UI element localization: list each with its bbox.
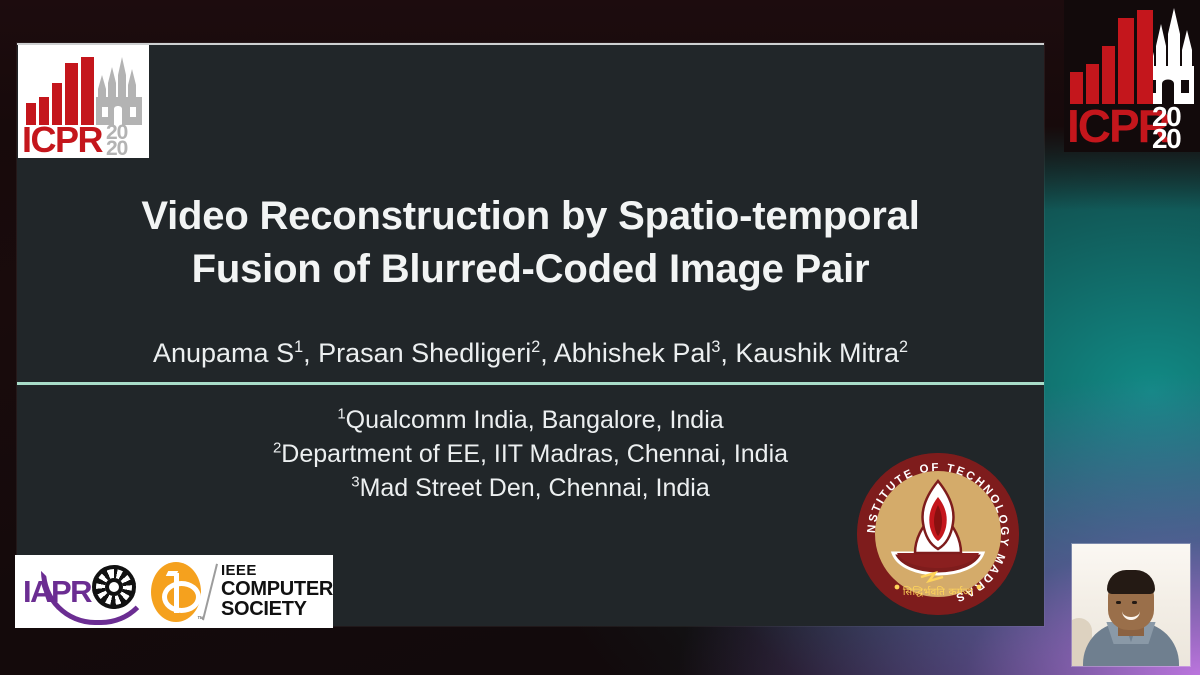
presenter-hair — [1107, 570, 1155, 594]
iapr-wordmark: IAPR — [23, 574, 91, 610]
iit-madras-seal-logo: INDIAN INSTITUTE OF TECHNOLOGY MADRAS सि… — [857, 453, 1019, 615]
author-affiliation-marker: 2 — [531, 338, 540, 356]
iapr-logo: IAPR — [15, 555, 147, 628]
iapr-pinwheel-icon — [92, 565, 136, 609]
slide-surface[interactable]: ICPR 20 20 Video Reconstruction by Spati… — [17, 43, 1044, 626]
icpr-logo-artwork: ICPR 20 20 — [18, 45, 149, 158]
author-entry: Kaushik Mitra2 — [735, 338, 908, 368]
svg-text:20: 20 — [106, 137, 128, 158]
title-line-2: Fusion of Blurred-Coded Image Pair — [51, 243, 1010, 296]
author-separator: , — [720, 338, 735, 368]
ieee-cs-line-3: SOCIETY — [221, 599, 333, 619]
author-name: Abhishek Pal — [554, 338, 712, 368]
sponsor-logo-strip: IAPR ™ IEEE COMPUTER SOCIETY — [15, 555, 333, 628]
author-separator: , — [540, 338, 554, 368]
presenter-eye-right — [1132, 601, 1137, 604]
author-affiliation-marker: 2 — [899, 338, 908, 356]
horizontal-rule — [17, 382, 1044, 385]
presentation-stage: ICPR 20 20 Video Reconstruction by Spati… — [0, 0, 1200, 675]
iit-madras-motto: सिद्धिर्भवति कर्मजा — [857, 584, 1019, 598]
icpr-logo-large: ICPR 20 20 — [1064, 0, 1200, 152]
ieee-cs-glyph-stem — [174, 573, 179, 613]
affiliation-item: 1Qualcomm India, Bangalore, India — [17, 403, 1044, 437]
ieee-cs-wordmark: IEEE COMPUTER SOCIETY — [221, 563, 333, 619]
ieee-cs-glyph-flag — [166, 571, 178, 576]
svg-text:20: 20 — [1152, 123, 1181, 152]
author-separator: , — [303, 338, 318, 368]
author-entry: Abhishek Pal3, — [554, 338, 736, 368]
affiliation-marker: 1 — [337, 406, 345, 423]
affiliation-text: Department of EE, IIT Madras, Chennai, I… — [281, 440, 788, 468]
author-entry: Prasan Shedligeri2, — [318, 338, 554, 368]
author-name: Anupama S — [153, 338, 294, 368]
author-affiliation-marker: 1 — [294, 338, 303, 356]
presenter-video-tile[interactable] — [1072, 544, 1190, 666]
title-line-1: Video Reconstruction by Spatio-temporal — [51, 190, 1010, 243]
ieee-cs-divider — [202, 563, 218, 620]
author-name: Kaushik Mitra — [735, 338, 899, 368]
author-list: Anupama S1, Prasan Shedligeri2, Abhishek… — [17, 336, 1044, 370]
affiliation-text: Qualcomm India, Bangalore, India — [346, 406, 724, 434]
slide-title: Video Reconstruction by Spatio-temporal … — [17, 190, 1044, 296]
svg-text:ICPR: ICPR — [22, 119, 104, 158]
presenter-eye-left — [1116, 601, 1121, 604]
icpr-logo-svg: ICPR 20 20 — [18, 45, 149, 158]
ieee-computer-society-logo: ™ IEEE COMPUTER SOCIETY — [147, 555, 333, 628]
icpr-logo-large-svg: ICPR 20 20 — [1064, 0, 1200, 152]
ieee-cs-mark-icon: ™ — [149, 562, 203, 622]
author-entry: Anupama S1, — [153, 338, 318, 368]
affiliation-marker: 3 — [351, 474, 359, 491]
ieee-cs-glyph-ring — [162, 581, 201, 613]
author-name: Prasan Shedligeri — [318, 338, 531, 368]
icpr-logo-small: ICPR 20 20 — [18, 45, 149, 158]
affiliation-text: Mad Street Den, Chennai, India — [360, 474, 710, 502]
ieee-cs-line-1: IEEE — [221, 563, 333, 578]
ieee-cs-line-2: COMPUTER — [221, 579, 333, 599]
